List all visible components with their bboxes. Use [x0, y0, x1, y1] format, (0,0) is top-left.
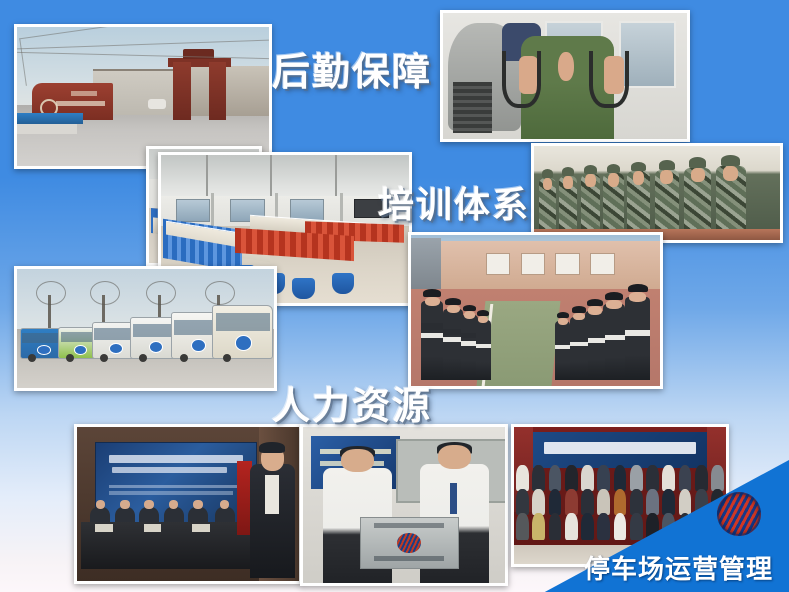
attendee [630, 513, 643, 541]
attendee [614, 465, 627, 491]
building-window-1 [486, 253, 510, 275]
belt [603, 335, 625, 340]
necktie [450, 483, 457, 514]
building-window-3 [555, 253, 579, 275]
attendee [662, 489, 675, 515]
face [425, 297, 440, 306]
screen-subtext-2 [109, 491, 234, 494]
belt [421, 333, 443, 338]
attendee [614, 513, 627, 541]
cap [584, 165, 597, 174]
name-card-2 [144, 524, 162, 532]
attendee [646, 465, 659, 491]
forum-banner [533, 432, 707, 468]
cap [721, 155, 740, 165]
attendee [581, 513, 594, 541]
face [629, 292, 646, 302]
gym-training-photo [440, 10, 690, 142]
bus-lot-scene [17, 269, 274, 388]
belt [555, 345, 570, 349]
industry-forum-group-photo [511, 424, 729, 567]
attendee [532, 465, 545, 491]
attendee [614, 489, 627, 515]
blue-stool-3 [292, 278, 314, 299]
emblem-ring [719, 494, 759, 534]
speaker-head [261, 446, 284, 471]
head [341, 449, 374, 472]
attendee [549, 465, 562, 491]
plaque-text-top [374, 523, 444, 527]
face [558, 318, 568, 325]
face [543, 178, 552, 190]
bus-logo-icon [109, 343, 123, 354]
bus-logo-icon [149, 341, 164, 354]
trainee-head [558, 52, 574, 81]
cap [557, 312, 569, 318]
sign-company-name [56, 101, 104, 106]
bus-6 [212, 305, 273, 359]
blue-kerb [17, 113, 83, 124]
guard-left-4 [476, 320, 491, 380]
guard-right-1 [625, 297, 650, 380]
face [608, 173, 619, 186]
parked-car [148, 99, 166, 109]
attendee [695, 489, 708, 515]
ceiling-beam-1 [206, 155, 208, 199]
cooperation-plaque [360, 517, 459, 569]
attendee [516, 465, 529, 491]
face [478, 316, 488, 323]
ceiling [161, 155, 409, 199]
attendee [516, 513, 529, 541]
bus-logo-icon [235, 335, 252, 351]
belt [585, 338, 605, 343]
forum-scene [514, 427, 726, 564]
attendee [711, 465, 724, 491]
belt [476, 344, 491, 348]
bus-logo-icon [191, 339, 206, 353]
blue-stool-4 [332, 273, 354, 294]
face [447, 305, 461, 314]
guard-right-3 [585, 311, 605, 380]
attendee [630, 489, 643, 515]
caption-human-resources: 人力资源 [272, 375, 432, 430]
left-building [411, 238, 441, 292]
speaker-shirt [265, 475, 279, 514]
cap [628, 284, 648, 292]
guard-right-5 [555, 321, 570, 380]
cap [562, 167, 574, 176]
attendee [581, 489, 594, 515]
attendee [630, 465, 643, 491]
guards-scene [411, 235, 660, 386]
attendee [565, 513, 578, 541]
cap [423, 289, 441, 297]
cap [689, 157, 706, 167]
sign-secondary-text [71, 91, 97, 96]
gate-pillar-right [209, 62, 227, 120]
attendee [646, 513, 659, 541]
attendee [662, 513, 675, 541]
screen-headline-2 [112, 467, 227, 473]
head [438, 445, 471, 469]
face [660, 170, 673, 184]
security-guard-drill-photo [408, 232, 663, 389]
bus-logo-icon [74, 345, 87, 355]
bus-window [216, 313, 270, 331]
cap [659, 160, 675, 170]
face [464, 311, 476, 319]
attendee [516, 489, 529, 515]
attendee-row-3 [514, 513, 726, 541]
face [691, 168, 705, 182]
attendee [565, 489, 578, 515]
cap [445, 298, 461, 305]
screen-subtext-1 [109, 485, 246, 488]
plaque-text-bottom [374, 556, 444, 560]
right-building [183, 66, 269, 116]
bus-fleet-photo [14, 266, 277, 391]
attendee [695, 465, 708, 491]
attendee [679, 489, 692, 515]
face [633, 171, 645, 185]
attendee [695, 513, 708, 541]
gym-scene [443, 13, 687, 139]
plaque-ceremony-photo [300, 424, 508, 586]
camo-scene [534, 146, 780, 240]
attendee [597, 513, 610, 541]
attendee-row-1 [514, 465, 726, 491]
screen-headline-1 [109, 455, 243, 462]
conference-scene [77, 427, 299, 581]
attendee [581, 465, 594, 491]
attendee [532, 489, 545, 515]
building-window-4 [590, 253, 614, 275]
company-emblem-icon [717, 492, 761, 536]
attendee [679, 513, 692, 541]
face [606, 300, 621, 309]
attendee [549, 513, 562, 541]
white-kerb [17, 124, 77, 134]
forum-banner-text [544, 442, 697, 453]
attendee [597, 489, 610, 515]
company-emblem-icon [397, 533, 420, 553]
attendee [662, 465, 675, 491]
machine-handle-left [502, 51, 542, 108]
belt [570, 342, 587, 346]
face [573, 313, 585, 321]
building-window-2 [521, 253, 545, 275]
face [723, 166, 738, 181]
recruitment-conference-photo [74, 424, 302, 584]
plaque-scene [303, 427, 505, 583]
camouflage-formation-photo [531, 143, 783, 243]
guard-right-2 [603, 304, 625, 380]
ceiling-beam-3 [335, 155, 337, 199]
attendee-row-2 [514, 489, 726, 515]
cap [572, 306, 586, 312]
gate-pillar-left [173, 62, 191, 120]
bus-logo-icon [37, 345, 51, 355]
cap [607, 164, 620, 173]
ceiling-beam-2 [270, 155, 272, 199]
cap [631, 162, 645, 172]
face [585, 174, 595, 187]
guard-right-4 [570, 317, 587, 380]
guard-left-1 [421, 301, 443, 380]
attendee [565, 465, 578, 491]
attendee [532, 513, 545, 541]
weight-stack [453, 82, 492, 132]
attendee [597, 465, 610, 491]
caption-training: 培训体系 [378, 176, 530, 228]
name-card-1 [95, 524, 113, 532]
attendee [679, 465, 692, 491]
cap [605, 292, 623, 300]
belt [625, 330, 650, 336]
brand-title: 停车场运营管理 [584, 549, 773, 586]
tree-1 [48, 295, 51, 331]
speaker-at-podium [250, 464, 294, 578]
cap [542, 169, 553, 178]
attendee [549, 489, 562, 515]
face [563, 176, 573, 189]
name-card-3 [192, 524, 210, 532]
face [588, 306, 602, 314]
school-building [436, 241, 660, 292]
window-1 [176, 199, 210, 222]
cap [587, 299, 603, 306]
caption-logistics: 后勤保障 [272, 41, 432, 96]
machine-handle-right [589, 51, 629, 108]
presentation-slide: 后勤保障 培训体系 人力资源 停车场运营管理 [0, 0, 789, 592]
attendee [646, 489, 659, 515]
